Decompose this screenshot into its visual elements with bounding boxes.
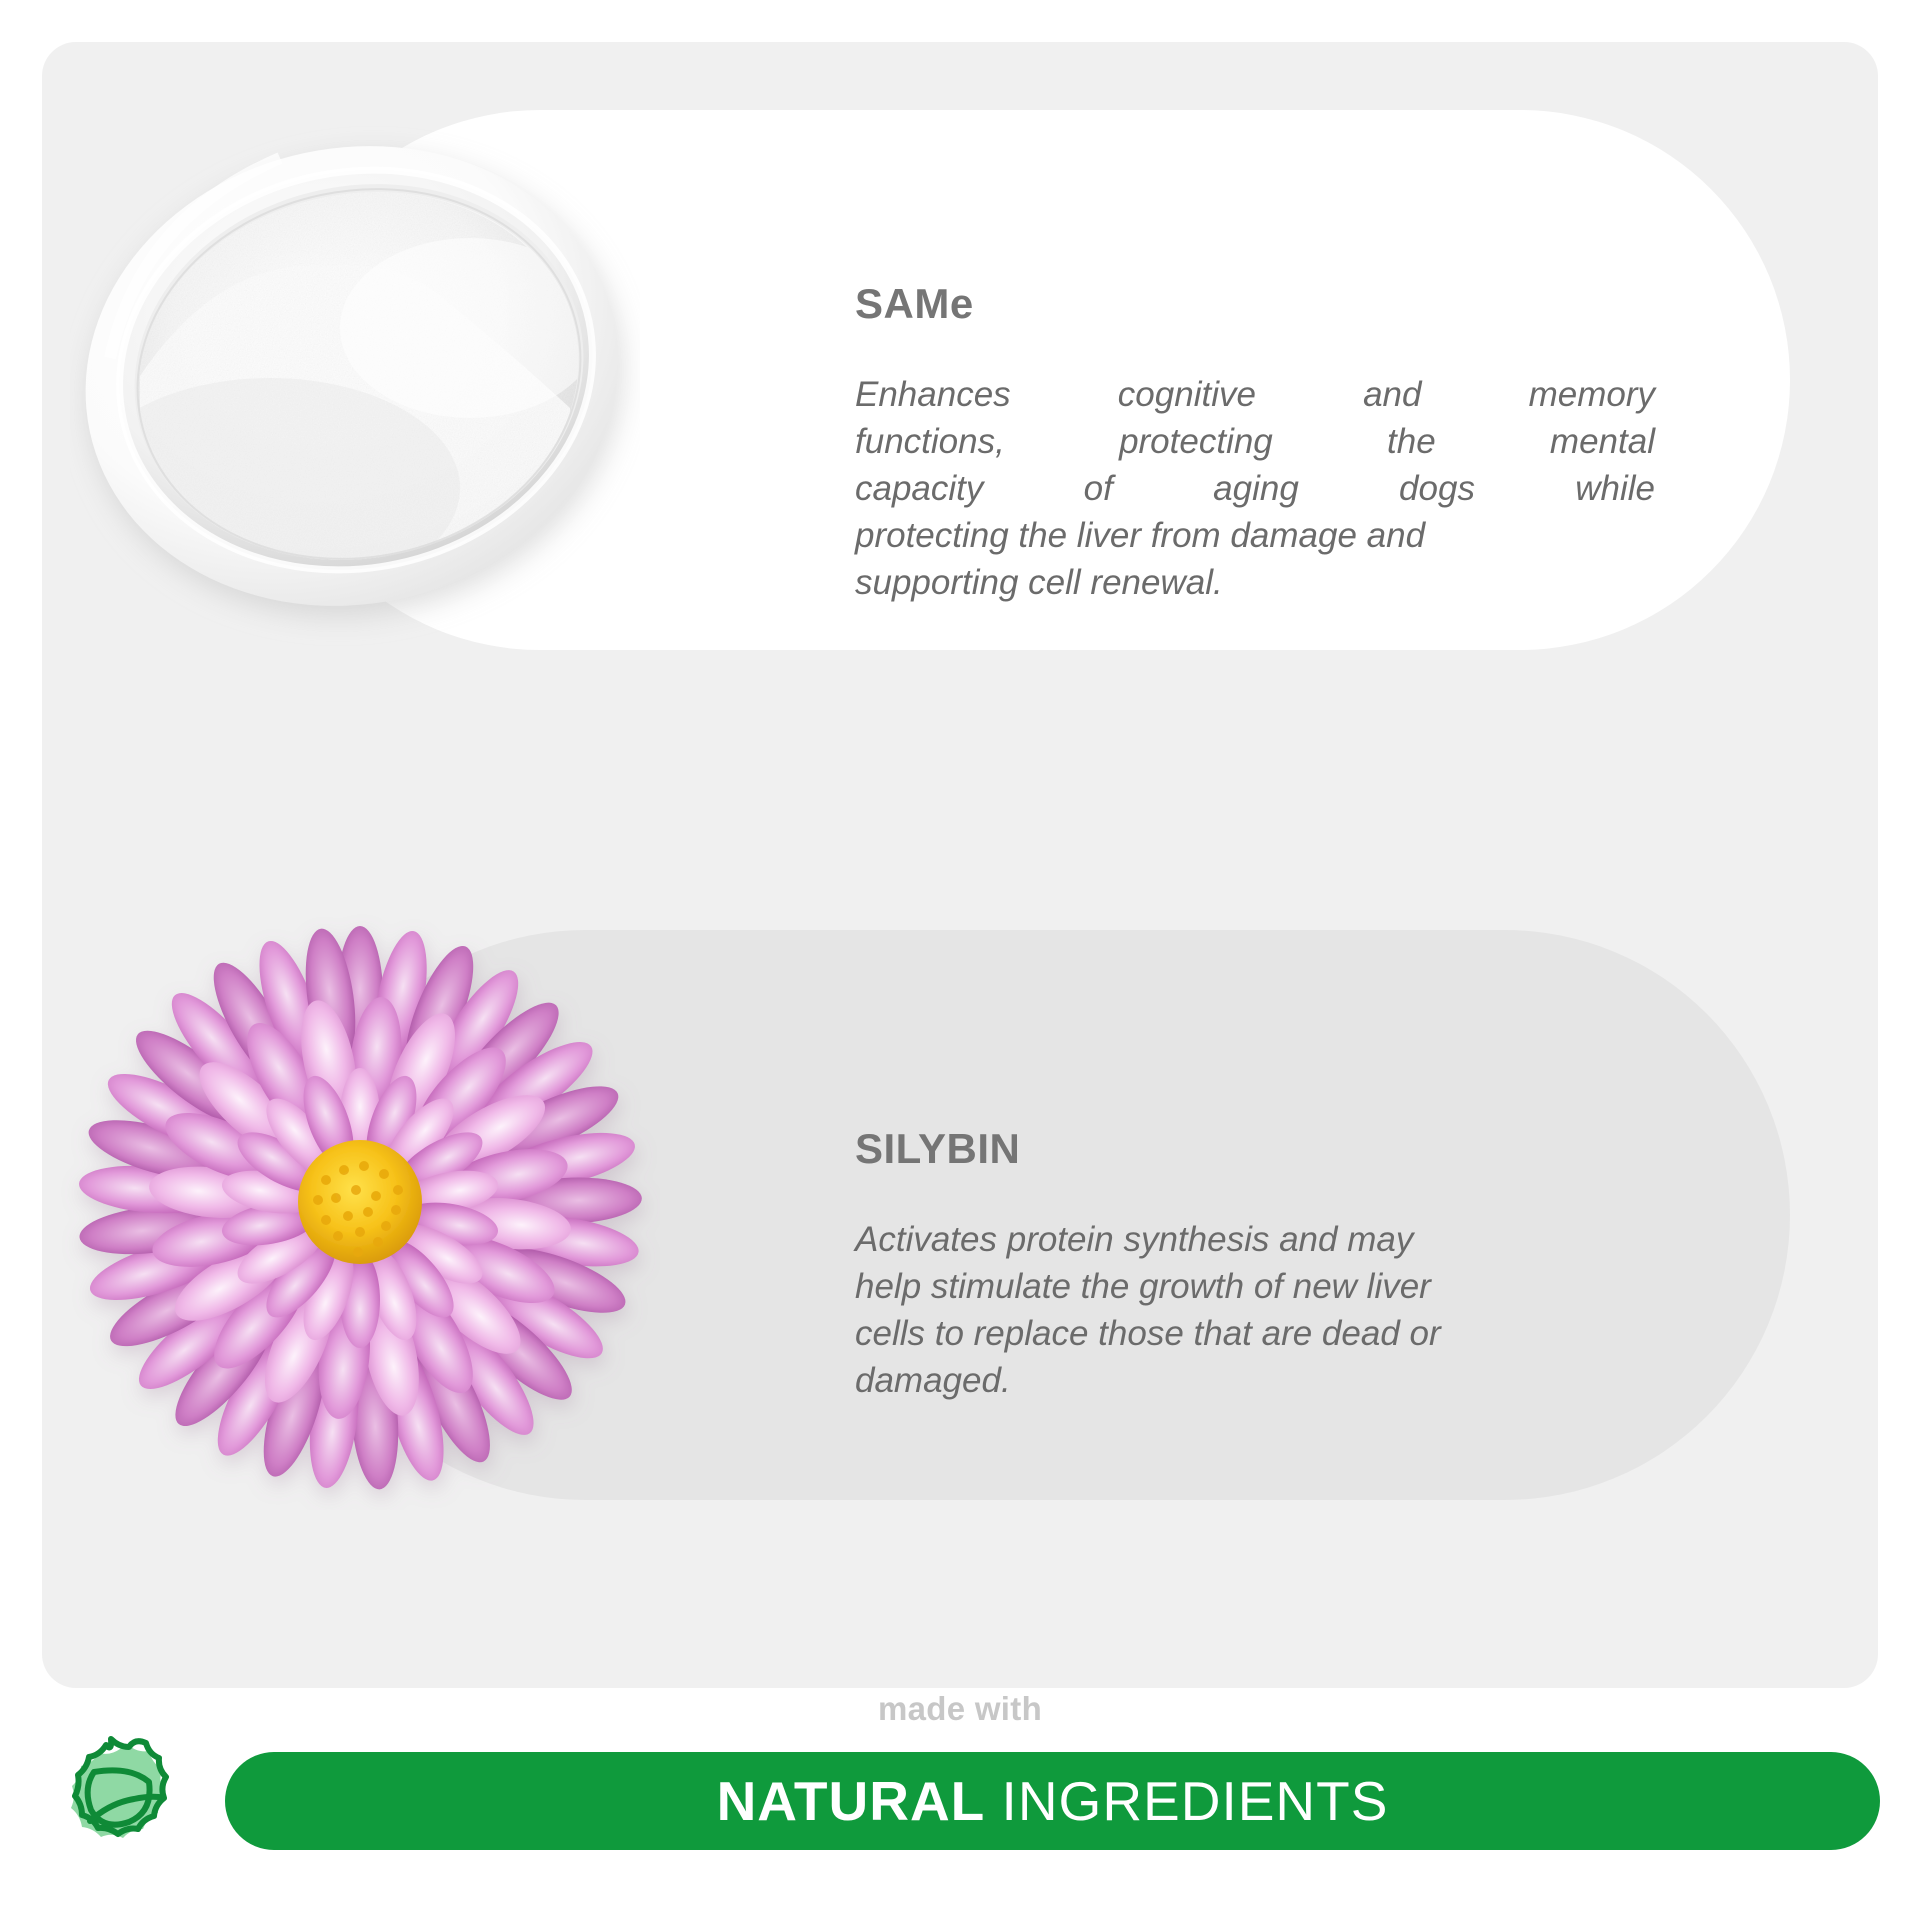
desc-line: help stimulate the growth of new liver <box>855 1264 1655 1311</box>
desc-line: cells to replace those that are dead or <box>855 1311 1655 1358</box>
ingredient-description-silybin: Activates protein synthesis and may help… <box>855 1217 1655 1405</box>
same-text-block: SAMe Enhances cognitive and memory funct… <box>855 280 1655 606</box>
desc-line: Enhances cognitive and memory <box>855 372 1655 419</box>
footer: made with NATURAL INGREDIENTS <box>0 1690 1920 1920</box>
made-with-label: made with <box>0 1690 1920 1728</box>
powder-bowl-image <box>70 108 640 668</box>
desc-line: supporting cell renewal. <box>855 560 1655 607</box>
desc-line: functions, protecting the mental <box>855 419 1655 466</box>
ingredient-title-silybin: SILYBIN <box>855 1125 1655 1173</box>
desc-line: Activates protein synthesis and may <box>855 1217 1655 1264</box>
silybin-text-block: SILYBIN Activates protein synthesis and … <box>855 1125 1655 1405</box>
banner-bold-word: NATURAL <box>717 1770 986 1832</box>
banner-light-word: INGREDIENTS <box>985 1770 1388 1832</box>
desc-line: protecting the liver from damage and <box>855 513 1655 560</box>
leaf-badge-icon <box>48 1732 190 1874</box>
ingredient-description-same: Enhances cognitive and memory functions,… <box>855 372 1655 606</box>
ingredient-title-same: SAMe <box>855 280 1655 328</box>
desc-line: capacity of aging dogs while <box>855 466 1655 513</box>
desc-line: damaged. <box>855 1358 1655 1405</box>
banner-text: NATURAL INGREDIENTS <box>717 1769 1389 1833</box>
aster-flower-image <box>60 890 660 1510</box>
natural-ingredients-banner: NATURAL INGREDIENTS <box>225 1752 1880 1850</box>
